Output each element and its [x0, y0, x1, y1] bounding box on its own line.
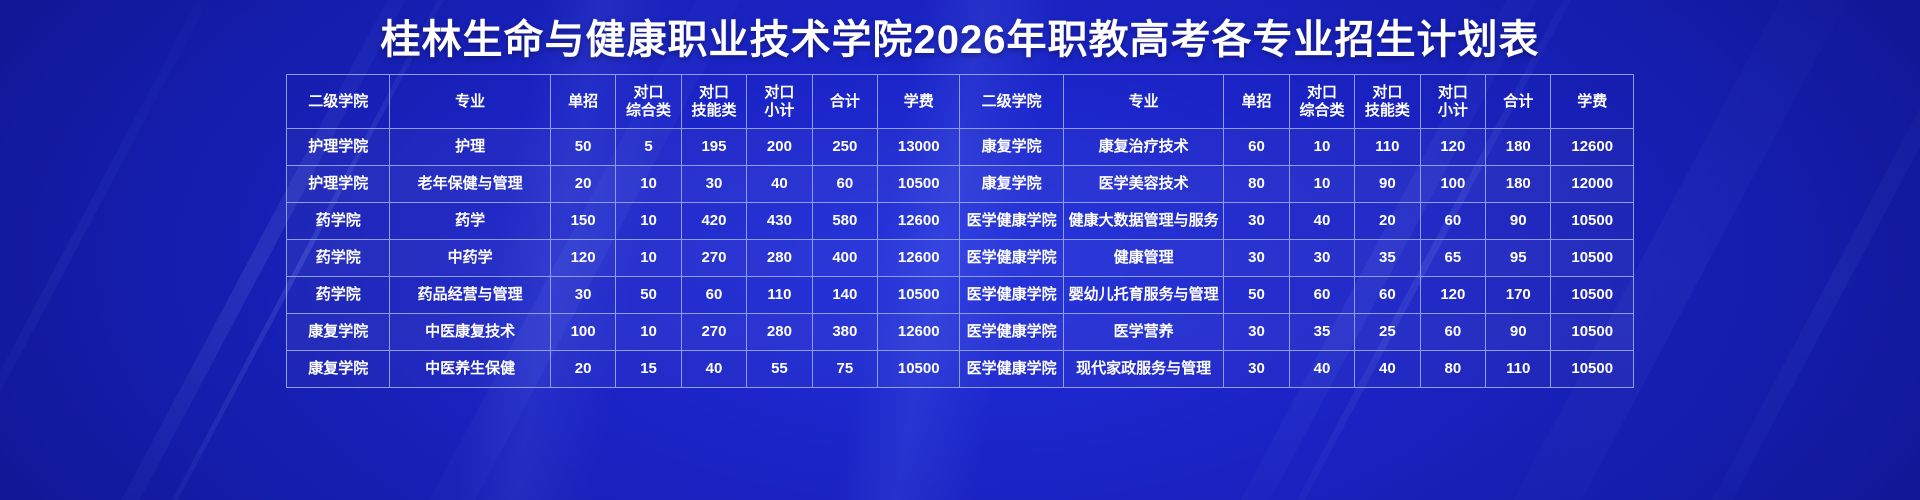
cell-right-xiaoji: 60 — [1420, 314, 1485, 351]
cell-left-danzhao: 30 — [550, 277, 615, 314]
cell-right-danzhao: 30 — [1224, 314, 1289, 351]
table-row: 药学院药学1501042043058012600医学健康学院健康大数据管理与服务… — [287, 203, 1634, 240]
cell-left-jineng: 40 — [681, 351, 746, 388]
cell-right-jineng: 35 — [1355, 240, 1420, 277]
cell-left-total: 75 — [812, 351, 877, 388]
cell-left-major: 中药学 — [390, 240, 550, 277]
cell-right-fee: 10500 — [1551, 351, 1634, 388]
cell-right-zonghe: 40 — [1289, 203, 1354, 240]
poster-root: 桂林生命与健康职业技术学院2026年职教高考各专业招生计划表 二级学院 专业 单… — [0, 0, 1920, 500]
header-major-right: 专业 — [1063, 75, 1223, 129]
cell-left-college: 药学院 — [287, 240, 390, 277]
header-line-2: 综合类 — [1290, 102, 1354, 120]
cell-right-fee: 12000 — [1551, 166, 1634, 203]
table-body: 护理学院护理50519520025013000康复学院康复治疗技术6010110… — [287, 129, 1634, 388]
cell-right-xiaoji: 60 — [1420, 203, 1485, 240]
cell-right-jineng: 40 — [1355, 351, 1420, 388]
cell-right-jineng: 90 — [1355, 166, 1420, 203]
header-duikou-xiaoji-right: 对口 小计 — [1420, 75, 1485, 129]
cell-right-total: 180 — [1486, 166, 1551, 203]
cell-left-major: 中医康复技术 — [390, 314, 550, 351]
header-danzhao-left: 单招 — [550, 75, 615, 129]
cell-right-major: 医学营养 — [1063, 314, 1223, 351]
cell-left-danzhao: 50 — [550, 129, 615, 166]
cell-right-fee: 10500 — [1551, 314, 1634, 351]
cell-left-college: 药学院 — [287, 277, 390, 314]
cell-right-total: 95 — [1486, 240, 1551, 277]
cell-right-xiaoji: 120 — [1420, 277, 1485, 314]
cell-left-zonghe: 10 — [616, 166, 681, 203]
cell-left-danzhao: 120 — [550, 240, 615, 277]
header-line-2: 综合类 — [616, 102, 680, 120]
cell-left-total: 400 — [812, 240, 877, 277]
cell-left-fee: 10500 — [878, 166, 960, 203]
cell-left-jineng: 195 — [681, 129, 746, 166]
cell-right-danzhao: 50 — [1224, 277, 1289, 314]
cell-right-fee: 10500 — [1551, 203, 1634, 240]
cell-left-xiaoji: 200 — [747, 129, 812, 166]
cell-right-danzhao: 30 — [1224, 351, 1289, 388]
cell-right-xiaoji: 100 — [1420, 166, 1485, 203]
cell-right-danzhao: 80 — [1224, 166, 1289, 203]
cell-left-xiaoji: 55 — [747, 351, 812, 388]
cell-left-danzhao: 150 — [550, 203, 615, 240]
cell-right-danzhao: 30 — [1224, 203, 1289, 240]
cell-right-fee: 12600 — [1551, 129, 1634, 166]
header-line-1: 对口 — [747, 84, 811, 102]
cell-left-college: 护理学院 — [287, 129, 390, 166]
cell-left-xiaoji: 280 — [747, 314, 812, 351]
cell-left-jineng: 420 — [681, 203, 746, 240]
cell-left-zonghe: 5 — [616, 129, 681, 166]
cell-right-zonghe: 35 — [1289, 314, 1354, 351]
cell-left-college: 康复学院 — [287, 314, 390, 351]
cell-left-college: 康复学院 — [287, 351, 390, 388]
header-duikou-zonghe-right: 对口 综合类 — [1289, 75, 1354, 129]
table-row: 护理学院护理50519520025013000康复学院康复治疗技术6010110… — [287, 129, 1634, 166]
cell-right-college: 医学健康学院 — [960, 240, 1063, 277]
cell-left-jineng: 270 — [681, 240, 746, 277]
header-college-right: 二级学院 — [960, 75, 1063, 129]
cell-right-major: 健康管理 — [1063, 240, 1223, 277]
cell-right-danzhao: 30 — [1224, 240, 1289, 277]
cell-right-total: 170 — [1486, 277, 1551, 314]
page-title: 桂林生命与健康职业技术学院2026年职教高考各专业招生计划表 — [0, 0, 1920, 74]
cell-left-major: 药品经营与管理 — [390, 277, 550, 314]
cell-right-college: 医学健康学院 — [960, 314, 1063, 351]
table-header: 二级学院 专业 单招 对口 综合类 对口 技能类 对口 小计 合 — [287, 75, 1634, 129]
header-line-1: 对口 — [1290, 84, 1354, 102]
cell-left-zonghe: 10 — [616, 240, 681, 277]
cell-right-zonghe: 30 — [1289, 240, 1354, 277]
cell-right-zonghe: 10 — [1289, 166, 1354, 203]
table-row: 护理学院老年保健与管理201030406010500康复学院医学美容技术8010… — [287, 166, 1634, 203]
header-college-left: 二级学院 — [287, 75, 390, 129]
cell-left-fee: 13000 — [878, 129, 960, 166]
header-line-2: 技能类 — [682, 102, 746, 120]
cell-left-college: 护理学院 — [287, 166, 390, 203]
cell-right-major: 健康大数据管理与服务 — [1063, 203, 1223, 240]
header-line-2: 小计 — [1421, 102, 1485, 120]
cell-right-jineng: 60 — [1355, 277, 1420, 314]
cell-right-college: 康复学院 — [960, 129, 1063, 166]
cell-right-college: 医学健康学院 — [960, 277, 1063, 314]
cell-right-total: 110 — [1486, 351, 1551, 388]
header-fee-left: 学费 — [878, 75, 960, 129]
header-duikou-jineng-left: 对口 技能类 — [681, 75, 746, 129]
cell-right-fee: 10500 — [1551, 240, 1634, 277]
cell-left-fee: 10500 — [878, 277, 960, 314]
cell-right-xiaoji: 65 — [1420, 240, 1485, 277]
cell-left-major: 护理 — [390, 129, 550, 166]
cell-left-total: 580 — [812, 203, 877, 240]
cell-left-xiaoji: 110 — [747, 277, 812, 314]
enrollment-plan-table: 二级学院 专业 单招 对口 综合类 对口 技能类 对口 小计 合 — [286, 74, 1634, 388]
table-row: 药学院药品经营与管理30506011014010500医学健康学院婴幼儿托育服务… — [287, 277, 1634, 314]
cell-right-total: 90 — [1486, 314, 1551, 351]
cell-left-danzhao: 20 — [550, 166, 615, 203]
cell-right-major: 婴幼儿托育服务与管理 — [1063, 277, 1223, 314]
cell-left-jineng: 30 — [681, 166, 746, 203]
header-line-2: 小计 — [747, 102, 811, 120]
cell-left-xiaoji: 280 — [747, 240, 812, 277]
cell-left-fee: 10500 — [878, 351, 960, 388]
cell-right-total: 90 — [1486, 203, 1551, 240]
cell-left-zonghe: 15 — [616, 351, 681, 388]
header-line-1: 对口 — [1355, 84, 1419, 102]
cell-right-danzhao: 60 — [1224, 129, 1289, 166]
cell-right-fee: 10500 — [1551, 277, 1634, 314]
cell-right-college: 康复学院 — [960, 166, 1063, 203]
cell-left-zonghe: 10 — [616, 314, 681, 351]
cell-left-major: 中医养生保健 — [390, 351, 550, 388]
cell-left-total: 140 — [812, 277, 877, 314]
header-fee-right: 学费 — [1551, 75, 1634, 129]
enrollment-plan-table-container: 二级学院 专业 单招 对口 综合类 对口 技能类 对口 小计 合 — [286, 74, 1634, 388]
header-line-2: 技能类 — [1355, 102, 1419, 120]
cell-right-major: 康复治疗技术 — [1063, 129, 1223, 166]
header-duikou-jineng-right: 对口 技能类 — [1355, 75, 1420, 129]
cell-right-jineng: 110 — [1355, 129, 1420, 166]
header-danzhao-right: 单招 — [1224, 75, 1289, 129]
cell-right-major: 医学美容技术 — [1063, 166, 1223, 203]
cell-right-major: 现代家政服务与管理 — [1063, 351, 1223, 388]
cell-left-xiaoji: 430 — [747, 203, 812, 240]
header-line-1: 对口 — [616, 84, 680, 102]
cell-left-fee: 12600 — [878, 240, 960, 277]
cell-right-jineng: 25 — [1355, 314, 1420, 351]
cell-right-zonghe: 10 — [1289, 129, 1354, 166]
table-header-row: 二级学院 专业 单招 对口 综合类 对口 技能类 对口 小计 合 — [287, 75, 1634, 129]
cell-left-jineng: 270 — [681, 314, 746, 351]
cell-left-jineng: 60 — [681, 277, 746, 314]
cell-left-major: 药学 — [390, 203, 550, 240]
cell-right-zonghe: 60 — [1289, 277, 1354, 314]
cell-right-jineng: 20 — [1355, 203, 1420, 240]
header-line-1: 对口 — [682, 84, 746, 102]
cell-right-college: 医学健康学院 — [960, 351, 1063, 388]
cell-left-fee: 12600 — [878, 203, 960, 240]
cell-left-xiaoji: 40 — [747, 166, 812, 203]
cell-right-xiaoji: 120 — [1420, 129, 1485, 166]
cell-left-total: 60 — [812, 166, 877, 203]
cell-left-college: 药学院 — [287, 203, 390, 240]
cell-right-zonghe: 40 — [1289, 351, 1354, 388]
cell-left-danzhao: 20 — [550, 351, 615, 388]
table-row: 康复学院中医康复技术1001027028038012600医学健康学院医学营养3… — [287, 314, 1634, 351]
cell-left-fee: 12600 — [878, 314, 960, 351]
table-row: 康复学院中医养生保健201540557510500医学健康学院现代家政服务与管理… — [287, 351, 1634, 388]
cell-left-danzhao: 100 — [550, 314, 615, 351]
header-duikou-zonghe-left: 对口 综合类 — [616, 75, 681, 129]
cell-left-zonghe: 50 — [616, 277, 681, 314]
header-major-left: 专业 — [390, 75, 550, 129]
table-row: 药学院中药学1201027028040012600医学健康学院健康管理30303… — [287, 240, 1634, 277]
cell-left-zonghe: 10 — [616, 203, 681, 240]
header-total-left: 合计 — [812, 75, 877, 129]
cell-right-xiaoji: 80 — [1420, 351, 1485, 388]
cell-left-total: 380 — [812, 314, 877, 351]
header-line-1: 对口 — [1421, 84, 1485, 102]
header-duikou-xiaoji-left: 对口 小计 — [747, 75, 812, 129]
header-total-right: 合计 — [1486, 75, 1551, 129]
cell-left-major: 老年保健与管理 — [390, 166, 550, 203]
cell-left-total: 250 — [812, 129, 877, 166]
cell-right-college: 医学健康学院 — [960, 203, 1063, 240]
cell-right-total: 180 — [1486, 129, 1551, 166]
